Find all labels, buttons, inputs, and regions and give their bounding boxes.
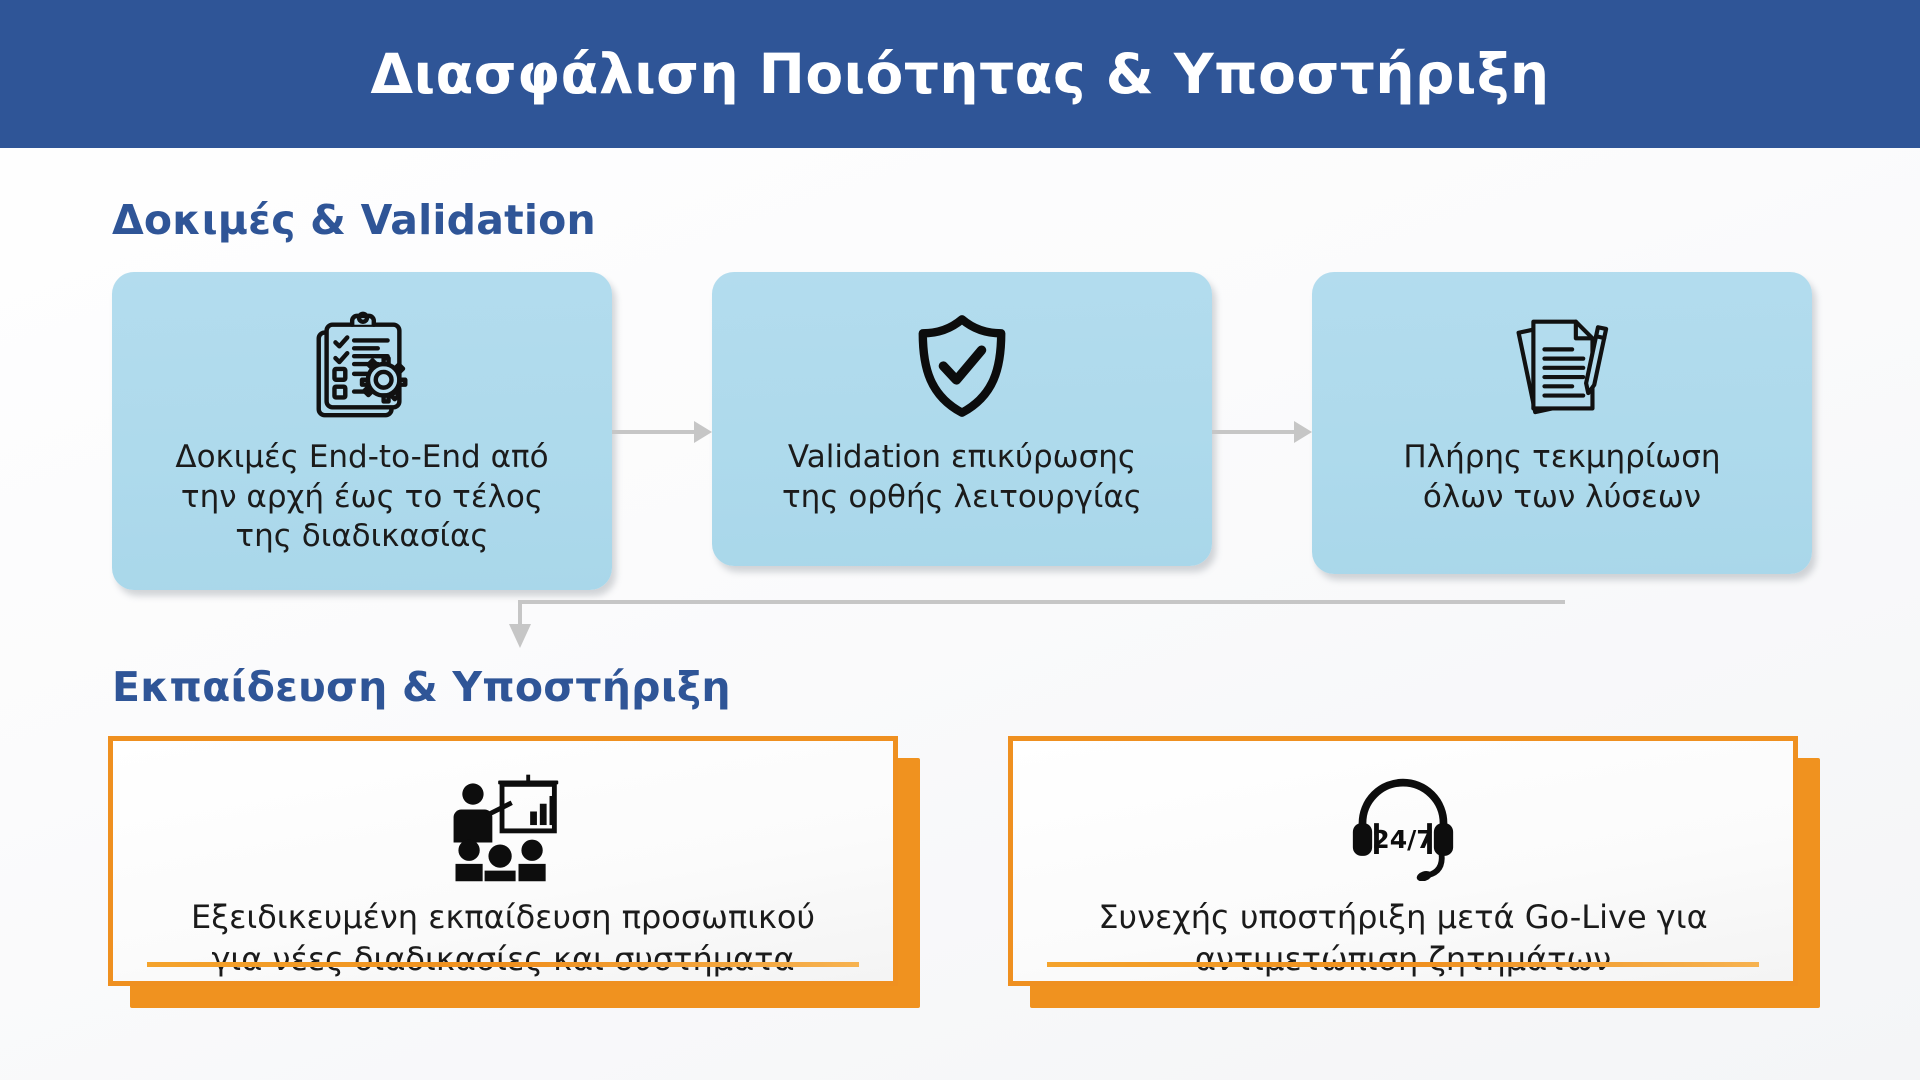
arrow-head-icon <box>1294 421 1312 443</box>
page-title: Διασφάλιση Ποιότητας & Υποστήριξη <box>371 44 1550 105</box>
card-documentation[interactable]: Πλήρης τεκμηρίωση όλων των λύσεων <box>1312 272 1812 574</box>
clipboard-checklist-gear-icon <box>303 302 421 430</box>
connector-line <box>1212 430 1294 434</box>
card-text-continuous-support: Συνεχής υποστήριξη μετά Go-Live για αντι… <box>1013 897 1793 980</box>
arrow-head-icon <box>694 421 712 443</box>
connector-arrow-3 <box>500 574 1565 666</box>
connector-arrow-2 <box>1212 425 1312 439</box>
card-end-to-end-testing[interactable]: Δοκιμές End-to-End από την αρχή έως το τ… <box>112 272 612 590</box>
card-frame: 24/7 Συνεχής υποστήριξη μετά Go-Live για… <box>1008 736 1798 986</box>
documents-pen-icon <box>1502 302 1622 430</box>
card-frame: Εξειδικευμένη εκπαίδευση προσωπικού για … <box>108 736 898 986</box>
connector-arrow-1 <box>612 425 712 439</box>
support-badge-text: 24/7 <box>1372 825 1433 854</box>
card-continuous-support[interactable]: 24/7 Συνεχής υποστήριξη μετά Go-Live για… <box>1008 736 1798 986</box>
shield-check-icon <box>906 302 1018 430</box>
section-heading-testing: Δοκιμές & Validation <box>112 196 596 244</box>
card-text-validation: Validation επικύρωσης της ορθής λειτουργ… <box>712 438 1212 517</box>
card-validation[interactable]: Validation επικύρωσης της ορθής λειτουργ… <box>712 272 1212 566</box>
connector-line <box>612 430 694 434</box>
card-text-staff-training: Εξειδικευμένη εκπαίδευση προσωπικού για … <box>113 897 893 980</box>
header-banner: Διασφάλιση Ποιότητας & Υποστήριξη <box>0 0 1920 148</box>
card-staff-training[interactable]: Εξειδικευμένη εκπαίδευση προσωπικού για … <box>108 736 898 986</box>
slide-canvas: Διασφάλιση Ποιότητας & Υποστήριξη Δοκιμέ… <box>0 0 1920 1080</box>
section-heading-training: Εκπαίδευση & Υποστήριξη <box>112 663 731 711</box>
presentation-training-icon <box>440 767 566 887</box>
card-underline-bar <box>147 962 859 967</box>
card-underline-bar <box>1047 962 1759 967</box>
headset-247-icon: 24/7 <box>1345 767 1461 887</box>
card-text-end-to-end: Δοκιμές End-to-End από την αρχή έως το τ… <box>112 438 612 557</box>
card-text-documentation: Πλήρης τεκμηρίωση όλων των λύσεων <box>1312 438 1812 517</box>
